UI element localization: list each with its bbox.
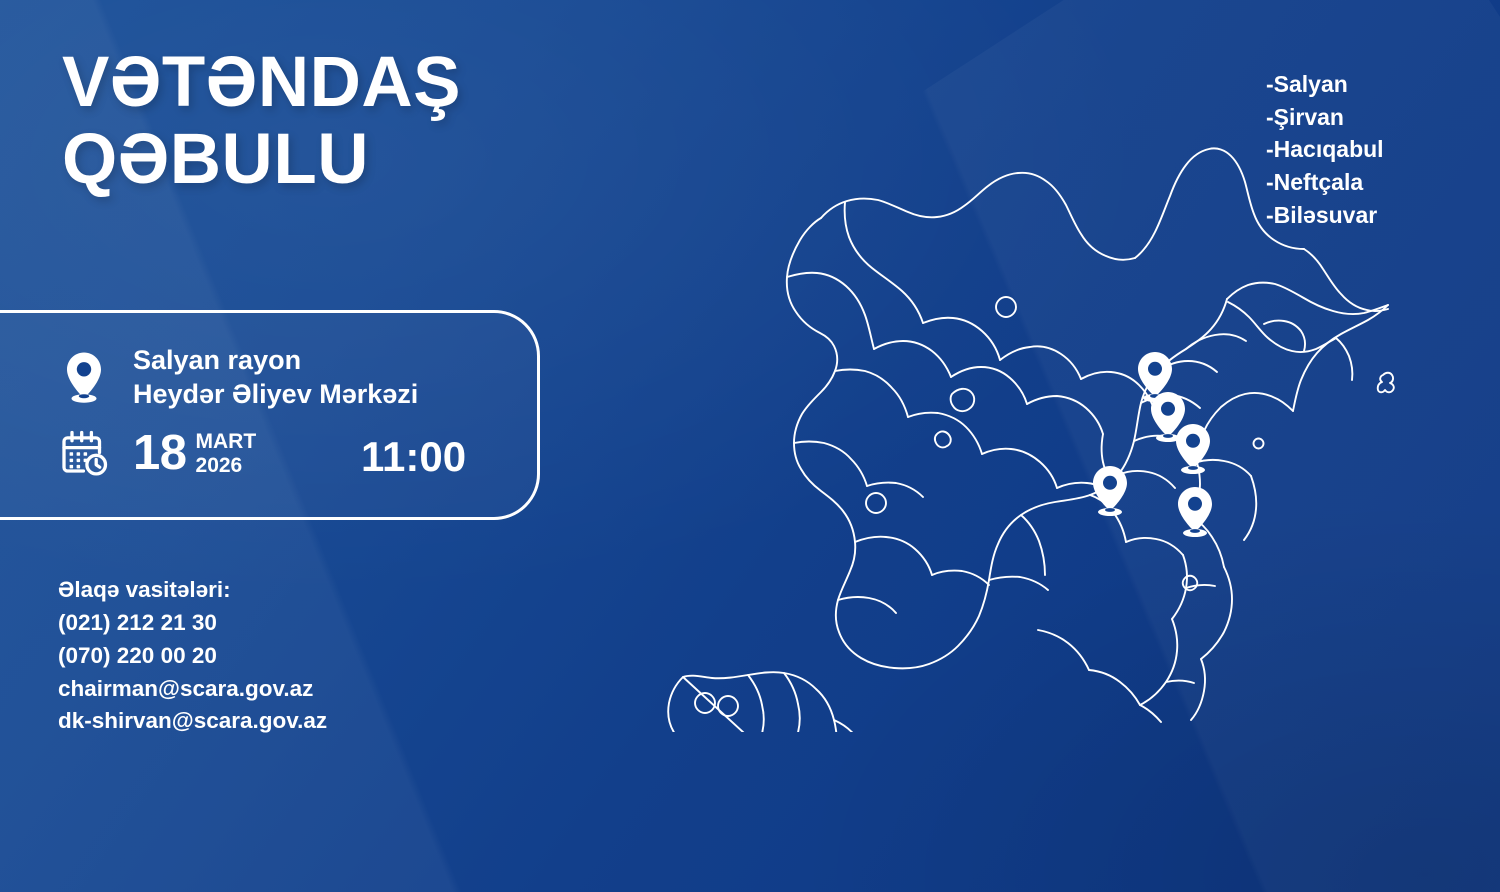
- calendar-clock-icon: [57, 425, 111, 481]
- contact-phone-1: (021) 212 21 30: [58, 607, 327, 640]
- event-location-row: Salyan rayon Heydər Əliyev Mərkəzi: [57, 343, 418, 411]
- map-marker-salyan[interactable]: [1093, 466, 1127, 516]
- contacts-block: Əlaqə vasitələri: (021) 212 21 30 (070) …: [58, 574, 327, 738]
- map-marker-bilesuvar[interactable]: [1176, 424, 1210, 474]
- event-month: MART: [196, 430, 257, 454]
- event-date-row: 18 MART 2026: [57, 425, 256, 481]
- poster-root: VƏTƏNDAŞ QƏBULU Salyan rayon Heydər Əliy…: [0, 0, 1500, 892]
- event-date-block: 18 MART 2026: [133, 429, 256, 478]
- contacts-label: Əlaqə vasitələri:: [58, 574, 327, 607]
- azerbaijan-map: [588, 72, 1418, 732]
- event-info-card: Salyan rayon Heydər Əliyev Mərkəzi: [0, 310, 540, 520]
- event-day: 18: [133, 429, 187, 478]
- contact-phone-2: (070) 220 00 20: [58, 640, 327, 673]
- event-month-year: MART 2026: [196, 429, 257, 477]
- page-title: VƏTƏNDAŞ QƏBULU: [62, 44, 461, 199]
- map-markers: [1093, 352, 1212, 537]
- event-location-text: Salyan rayon Heydər Əliyev Mərkəzi: [133, 343, 418, 411]
- event-time: 11:00: [361, 433, 466, 481]
- map-pin-icon: [57, 349, 111, 405]
- map-district-outlines: [668, 148, 1402, 732]
- event-year: 2026: [196, 454, 257, 478]
- contact-email-2: dk-shirvan@scara.gov.az: [58, 705, 327, 738]
- contact-email-1: chairman@scara.gov.az: [58, 673, 327, 706]
